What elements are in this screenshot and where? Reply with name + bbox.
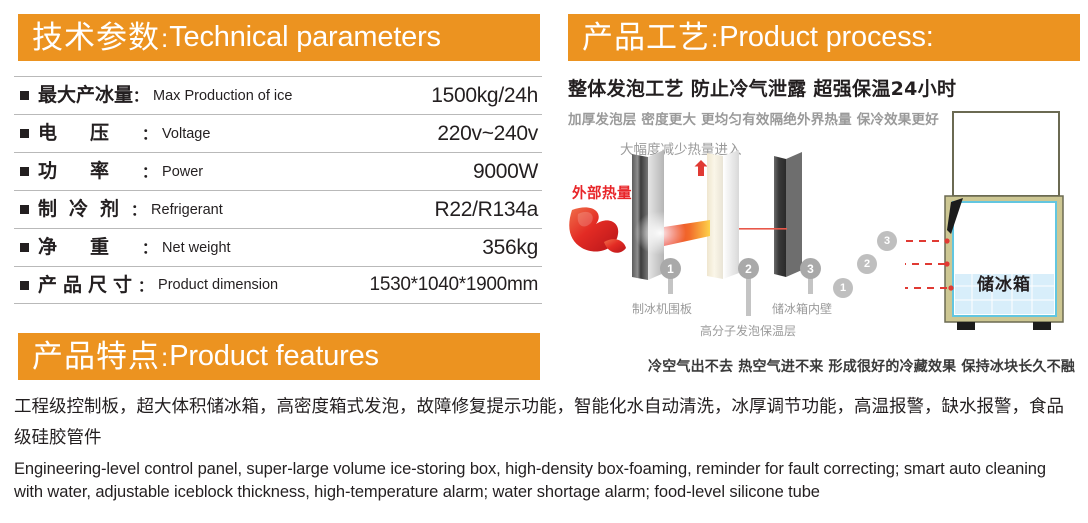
spec-label-colon: ： <box>138 275 153 296</box>
features-text-block: 工程级控制板，超大体积储冰箱，高密度箱式发泡，故障修复提示功能，智能化水自动清洗… <box>14 392 1076 503</box>
product-spec-page: 技术参数 : Technical parameters 最大产冰量：Max Pr… <box>0 0 1088 523</box>
bullet-icon <box>20 129 29 138</box>
spec-value: 1500kg/24h <box>431 84 538 108</box>
spec-value: 356kg <box>482 236 538 260</box>
product-features-header-colon: : <box>160 344 169 370</box>
process-bottom-note: 冷空气出不去 热空气进不来 形成很好的冷藏效果 保持冰块长久不融 <box>648 356 1075 376</box>
specifications-table: 最大产冰量：Max Production of ice1500kg/24h电压：… <box>14 76 542 304</box>
spec-label-en: Power <box>162 164 203 180</box>
process-heading: 整体发泡工艺 防止冷气泄露 超强保温24小时 <box>568 74 1068 101</box>
spec-label-cn: 净重 <box>38 238 142 257</box>
spec-label-cn: 产品尺寸 <box>38 276 138 295</box>
spec-row: 功率：Power9000W <box>14 152 542 190</box>
callout-label-2: 高分子发泡保温层 <box>700 322 796 339</box>
bullet-icon <box>20 91 29 100</box>
spec-label-cn: 制冷剂 <box>38 200 131 219</box>
cabinet-callout-2: 2 <box>857 254 877 274</box>
insulation-panels-illustration <box>560 150 870 305</box>
technical-parameters-header-colon: : <box>160 25 169 51</box>
callout-label-3: 储冰箱内壁 <box>772 300 832 317</box>
spec-row: 产品尺寸：Product dimension1530*1040*1900mm <box>14 266 542 304</box>
technical-parameters-header-en: Technical parameters <box>169 23 441 52</box>
spec-label-cn: 最大产冰量 <box>38 86 133 105</box>
spec-row: 净重：Net weight356kg <box>14 228 542 266</box>
callout-marker-3: 3 <box>800 258 821 279</box>
spec-value: 1530*1040*1900mm <box>370 274 538 296</box>
bullet-icon <box>20 167 29 176</box>
product-process-header: 产品工艺 : Product process: <box>568 14 1080 61</box>
cabinet-label: 储冰箱 <box>977 270 1031 295</box>
features-paragraph-cn: 工程级控制板，超大体积储冰箱，高密度箱式发泡，故障修复提示功能，智能化水自动清洗… <box>14 392 1076 454</box>
callout-marker-1: 1 <box>660 258 681 279</box>
spec-row: 电压：Voltage220v~240v <box>14 114 542 152</box>
spec-label-en: Max Production of ice <box>153 88 292 104</box>
cabinet-callout-3: 3 <box>877 231 897 251</box>
product-process-header-en: Product process: <box>719 23 933 52</box>
spec-value: 220v~240v <box>437 122 538 146</box>
technical-parameters-header-cn: 技术参数 <box>32 22 160 53</box>
bullet-icon <box>20 243 29 252</box>
product-process-header-cn: 产品工艺 <box>582 22 710 53</box>
spec-value: R22/R134a <box>434 198 538 222</box>
spec-row: 制冷剂：RefrigerantR22/R134a <box>14 190 542 228</box>
spec-label-en: Product dimension <box>158 277 278 293</box>
spec-label-cn: 电压 <box>38 124 142 143</box>
spec-label-en: Net weight <box>162 240 231 256</box>
spec-label-colon: ： <box>133 85 148 106</box>
product-features-header-cn: 产品特点 <box>32 341 160 372</box>
spec-label-cn: 功率 <box>38 162 142 181</box>
bullet-icon <box>20 281 29 290</box>
callout-label-1: 制冰机围板 <box>632 300 692 317</box>
spec-label-colon: ： <box>142 161 157 182</box>
ice-storage-cabinet-illustration: 储冰箱 3 2 1 <box>905 110 1085 343</box>
spec-row: 最大产冰量：Max Production of ice1500kg/24h <box>14 76 542 114</box>
spec-value: 9000W <box>473 160 538 184</box>
bullet-icon <box>20 205 29 214</box>
product-process-header-colon: : <box>710 25 719 51</box>
cabinet-callout-1: 1 <box>833 278 853 298</box>
spec-label-en: Voltage <box>162 126 210 142</box>
product-features-header-en: Product features <box>169 342 379 371</box>
features-paragraph-en: Engineering-level control panel, super-l… <box>14 458 1076 503</box>
technical-parameters-header: 技术参数 : Technical parameters <box>18 14 540 61</box>
spec-label-colon: ： <box>142 123 157 144</box>
spec-label-colon: ： <box>142 237 157 258</box>
spec-label-en: Refrigerant <box>151 202 223 218</box>
callout-marker-2: 2 <box>738 258 759 279</box>
spec-label-colon: ： <box>131 199 146 220</box>
product-features-header: 产品特点 : Product features <box>18 333 540 380</box>
